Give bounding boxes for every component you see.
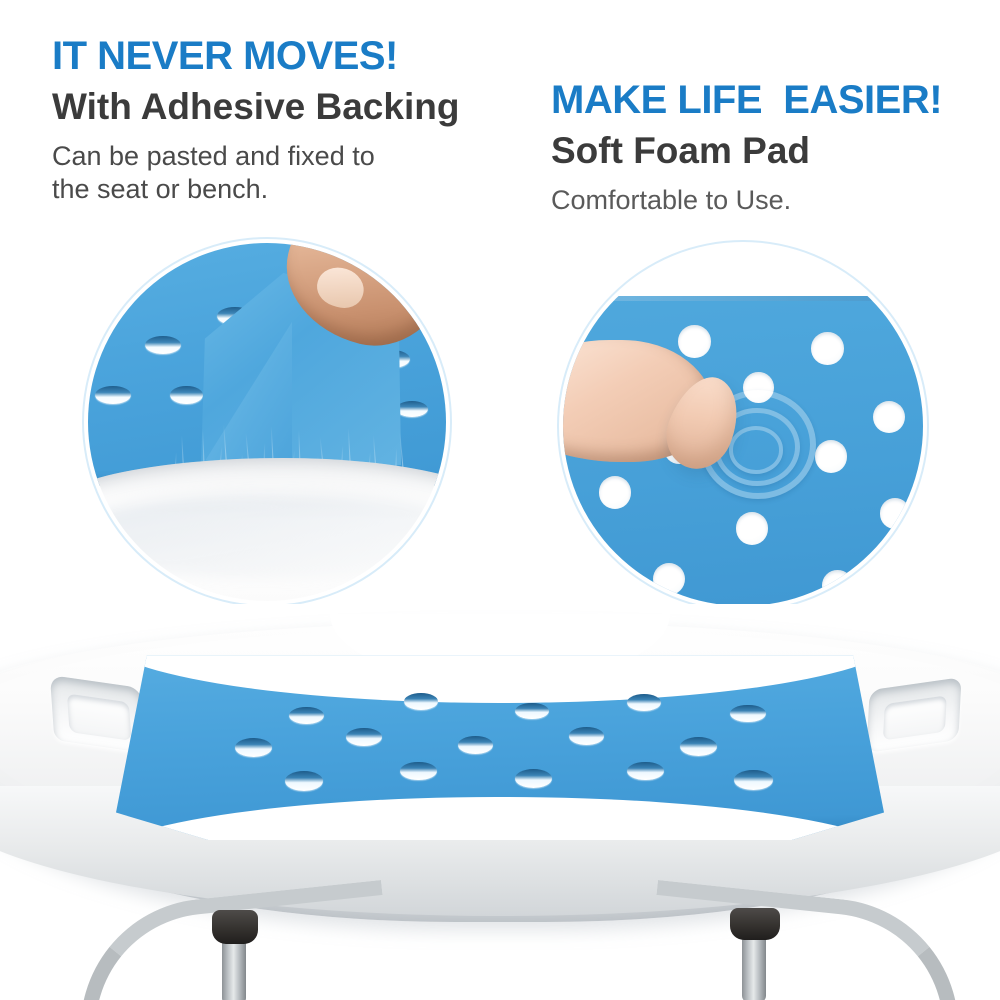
pad-hole-icon	[627, 694, 661, 711]
left-handle-opening	[67, 694, 131, 741]
right-subhead: Soft Foam Pad	[551, 132, 942, 171]
pad-hole-icon	[346, 728, 381, 746]
pad-hole-group	[116, 644, 884, 840]
foam-photo-inner	[563, 246, 923, 606]
infographic-stage: IT NEVER MOVES! With Adhesive Backing Ca…	[0, 0, 1000, 1000]
pad-hole-icon	[873, 401, 905, 433]
left-subhead: With Adhesive Backing	[52, 88, 459, 127]
blue-perforated-foam-pad	[116, 644, 884, 840]
pad-hole-icon	[289, 707, 324, 725]
adhesive-detail-photo	[88, 243, 446, 601]
pad-hole-icon	[458, 736, 493, 754]
left-leg-collar	[212, 910, 258, 944]
pad-hole-icon	[170, 386, 202, 404]
pad-hole-icon	[730, 705, 765, 723]
pad-hole-icon	[599, 476, 631, 508]
pad-hole-icon	[811, 332, 843, 364]
right-body-text: Comfortable to Use.	[551, 184, 942, 217]
pad-hole-icon	[515, 703, 549, 720]
pad-hole-icon	[235, 738, 272, 757]
pad-hole-icon	[285, 771, 323, 791]
left-headline: IT NEVER MOVES!	[52, 36, 459, 76]
pad-hole-icon	[95, 386, 131, 404]
pad-hole-icon	[515, 769, 552, 788]
right-handle-opening	[883, 695, 947, 740]
foam-detail-photo	[563, 246, 923, 606]
product-photo	[0, 604, 1000, 1000]
pad-hole-icon	[822, 570, 853, 601]
adhesive-photo-inner	[88, 243, 446, 601]
pad-hole-icon	[678, 325, 710, 357]
left-body-text: Can be pasted and fixed to the seat or b…	[52, 140, 459, 206]
pad-hole-icon	[627, 762, 664, 781]
pad-hole-icon	[734, 770, 772, 790]
right-copy-block: MAKE LIFE EASIER! Soft Foam Pad Comforta…	[551, 80, 942, 217]
pad-hole-icon	[736, 512, 768, 544]
left-copy-block: IT NEVER MOVES! With Adhesive Backing Ca…	[52, 36, 459, 206]
pad-hole-icon	[815, 440, 847, 472]
pad-hole-icon	[880, 498, 911, 529]
ripple-icon	[729, 426, 784, 474]
right-leg-arch	[640, 880, 972, 1000]
pad-hole-icon	[569, 727, 604, 745]
right-leg-collar	[730, 908, 780, 940]
pad-hole-icon	[145, 336, 181, 354]
pad-hole-icon	[404, 693, 438, 710]
pad-hole-icon	[400, 762, 437, 781]
pad-hole-icon	[680, 737, 717, 756]
right-headline: MAKE LIFE EASIER!	[551, 80, 942, 120]
white-seat-surface	[88, 458, 446, 601]
